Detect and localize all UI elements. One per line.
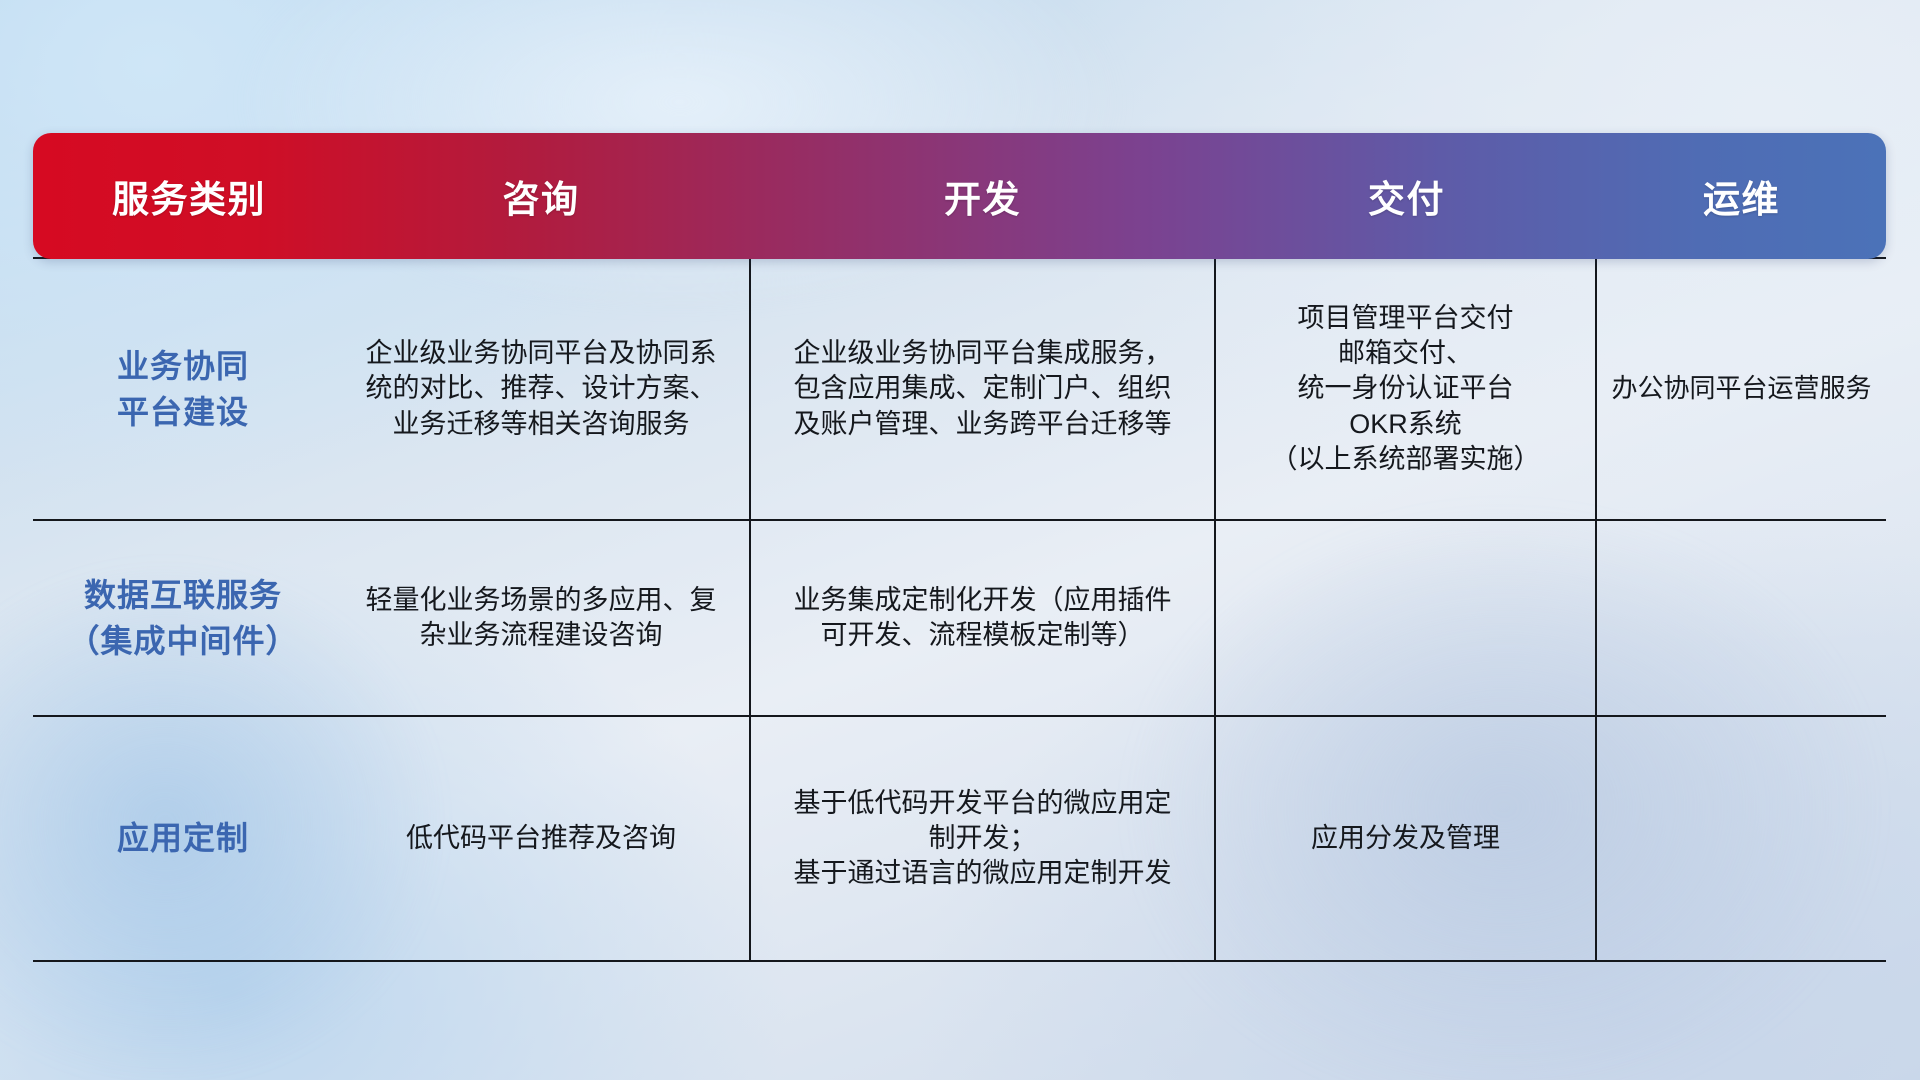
- column-header-delivery: 交付: [1216, 133, 1597, 259]
- table-body: 业务协同 平台建设 企业级业务协同平台及协同系 统的对比、推荐、设计方案、 业务…: [33, 257, 1886, 962]
- column-header-development: 开发: [749, 133, 1216, 259]
- table-row: 数据互联服务 （集成中间件） 轻量化业务场景的多应用、复 杂业务流程建设咨询 业…: [33, 521, 1886, 717]
- cell-operations-row-2: [1597, 521, 1886, 715]
- cell-consulting-row-1: 企业级业务协同平台及协同系 统的对比、推荐、设计方案、 业务迁移等相关咨询服务: [333, 259, 749, 519]
- row-label-data-integration: 数据互联服务 （集成中间件）: [33, 521, 333, 715]
- column-header-category: 服务类别: [33, 133, 333, 259]
- cell-delivery-row-2: [1216, 521, 1597, 715]
- table-row: 业务协同 平台建设 企业级业务协同平台及协同系 统的对比、推荐、设计方案、 业务…: [33, 259, 1886, 521]
- table-header-row: 服务类别 咨询 开发 交付 运维: [33, 133, 1886, 259]
- cell-operations-row-3: [1597, 717, 1886, 960]
- cell-operations-row-1: 办公协同平台运营服务: [1597, 259, 1886, 519]
- column-header-operations: 运维: [1597, 133, 1886, 259]
- cell-development-row-3: 基于低代码开发平台的微应用定 制开发； 基于通过语言的微应用定制开发: [749, 717, 1216, 960]
- service-matrix-table: 服务类别 咨询 开发 交付 运维 业务协同 平台建设 企业级业务协同平台及协同系…: [33, 133, 1886, 962]
- row-label-business-collaboration: 业务协同 平台建设: [33, 259, 333, 519]
- cell-development-row-2: 业务集成定制化开发（应用插件 可开发、流程模板定制等）: [749, 521, 1216, 715]
- table-row: 应用定制 低代码平台推荐及咨询 基于低代码开发平台的微应用定 制开发； 基于通过…: [33, 717, 1886, 962]
- cell-delivery-row-3: 应用分发及管理: [1216, 717, 1597, 960]
- row-label-application-customization: 应用定制: [33, 717, 333, 960]
- cell-consulting-row-3: 低代码平台推荐及咨询: [333, 717, 749, 960]
- cell-development-row-1: 企业级业务协同平台集成服务， 包含应用集成、定制门户、组织 及账户管理、业务跨平…: [749, 259, 1216, 519]
- column-header-consulting: 咨询: [333, 133, 749, 259]
- cell-delivery-row-1: 项目管理平台交付 邮箱交付、 统一身份认证平台 OKR系统 （以上系统部署实施）: [1216, 259, 1597, 519]
- cell-consulting-row-2: 轻量化业务场景的多应用、复 杂业务流程建设咨询: [333, 521, 749, 715]
